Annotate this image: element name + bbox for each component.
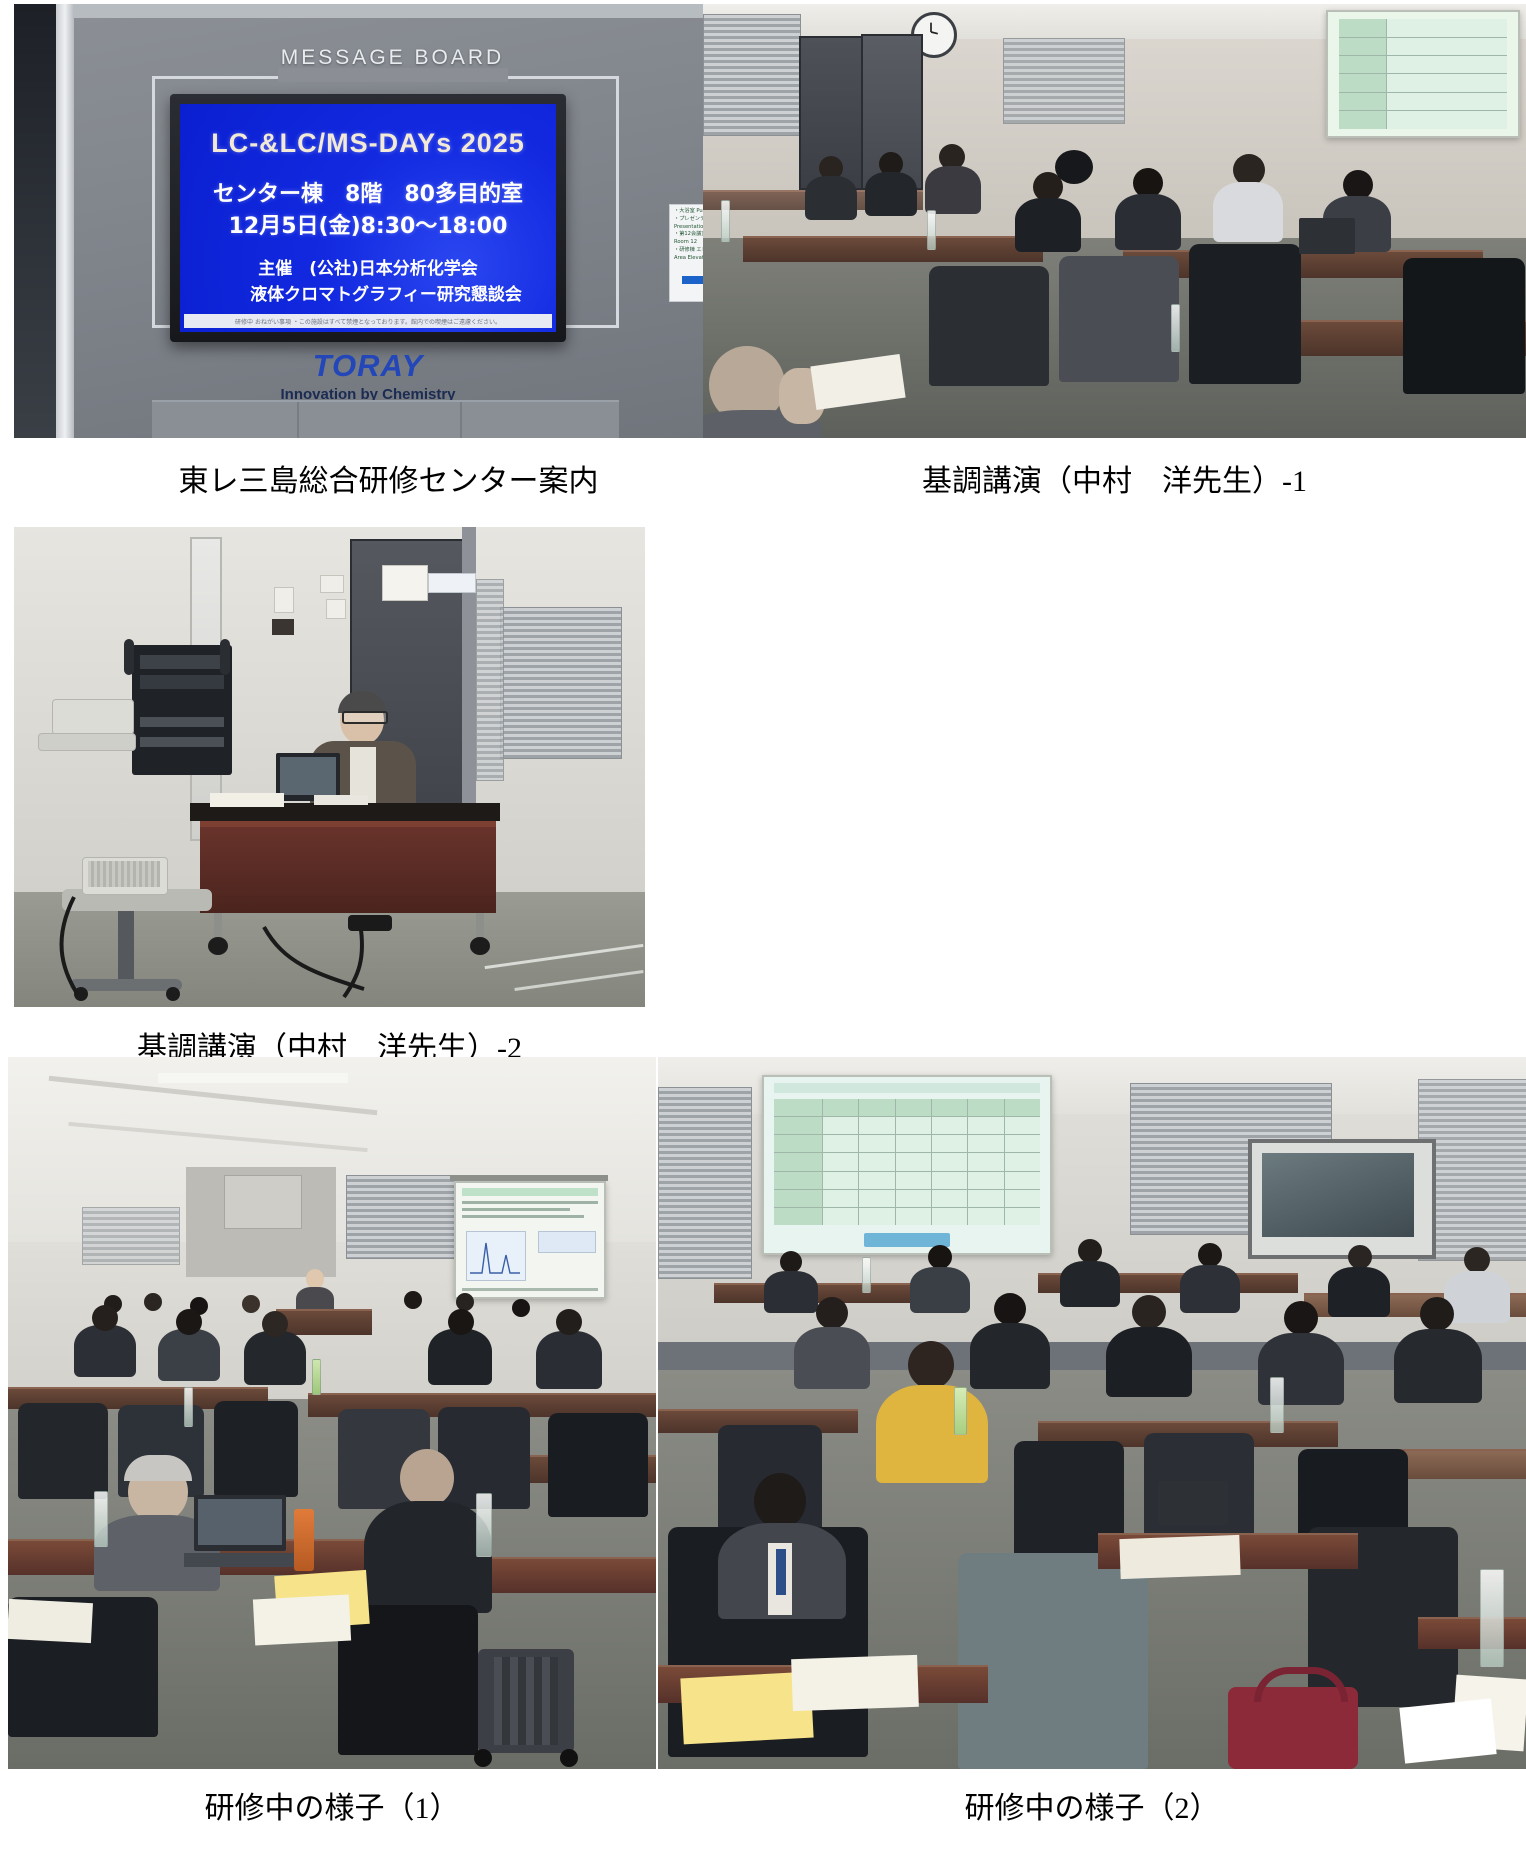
screen-organizer: 主催 (公社)日本分析化学会 (180, 254, 556, 279)
attendee-body (925, 166, 981, 214)
papers-on-lectern (210, 793, 284, 807)
attendee-body (794, 1327, 870, 1389)
photo2-chair (1403, 258, 1525, 394)
photo-training-1 (8, 1057, 656, 1769)
photo4-room (8, 1057, 656, 1769)
av-rack-handle (124, 639, 134, 675)
screen-ticker: 研修中 おねがい事項 ・この施設はすべて禁煙となっております。館内での喫煙はご遠… (184, 314, 552, 328)
attendee-body (1060, 1261, 1120, 1307)
photo4-panel (224, 1175, 302, 1229)
water-bottle (1480, 1569, 1504, 1667)
lectern-edge (200, 821, 496, 827)
laptop-screen (198, 1499, 282, 1545)
slide-title-bar (774, 1083, 1040, 1093)
photo-keynote-1 (703, 4, 1526, 438)
water-bottle (184, 1387, 193, 1427)
attendee-body (428, 1329, 492, 1385)
photo-keynote-2 (14, 527, 645, 1007)
av-rack-handle (220, 639, 230, 675)
attendee-head (1132, 1295, 1166, 1329)
attendee-head (816, 1297, 848, 1329)
figure-1-caption: 東レ三島総合研修センター案内 (14, 464, 763, 500)
water-bottle (1270, 1377, 1284, 1433)
attendee-body (364, 1501, 492, 1613)
laptop-keyboard (184, 1553, 296, 1567)
photo2-desk (743, 236, 1043, 262)
glasses-icon (342, 711, 388, 724)
photo1-seam-line (297, 402, 299, 438)
document-page: MESSAGE BOARD LC-&LC/MS-DAYs 2025 センター棟 … (0, 0, 1526, 1855)
screen-venue: センター棟 8階 80多目的室 (180, 176, 556, 208)
handout-paper (8, 1599, 93, 1643)
attendee-head (556, 1309, 582, 1335)
handout-paper (791, 1655, 919, 1711)
photo2-window-blinds (703, 14, 801, 136)
attendee-body (1180, 1265, 1240, 1313)
wall-notice (428, 573, 476, 593)
photo4-window-blinds (82, 1207, 180, 1265)
figure-5: 研修中の様子（2） (658, 1057, 1526, 1827)
attendee-head (242, 1295, 260, 1313)
figure-5-caption: 研修中の様子（2） (658, 1791, 1526, 1827)
photo4-chair (18, 1403, 108, 1499)
attendee-body (158, 1329, 220, 1381)
toray-logo: TORAY Innovation by Chemistry (170, 348, 566, 403)
photo4-chair (338, 1605, 478, 1755)
attendee-head (144, 1293, 162, 1311)
handout-paper (1119, 1535, 1240, 1579)
attendee-body (1015, 198, 1081, 252)
photo2-chair (1189, 244, 1301, 384)
photo1-left-wall (14, 4, 56, 438)
slide-table (774, 1099, 1040, 1225)
laptop (1158, 1481, 1228, 1525)
water-bottle (312, 1359, 321, 1395)
attendee-head (92, 1305, 118, 1331)
slide-title-bar (462, 1188, 598, 1196)
papers-on-lectern (314, 795, 368, 805)
suitcase-ribs (494, 1657, 558, 1745)
drink-cup (294, 1509, 314, 1571)
equipment-box (52, 699, 134, 735)
av-rack-slot (140, 655, 224, 669)
av-rack-slot (140, 737, 224, 747)
figure-4-caption: 研修中の様子（1） (8, 1791, 656, 1827)
photo2-chair (929, 266, 1049, 386)
projection-screen (1326, 10, 1520, 138)
photo2-window-blinds (1003, 38, 1125, 124)
attendee-head (908, 1341, 954, 1389)
slide-legend (538, 1231, 596, 1253)
projection-screen (454, 1181, 606, 1299)
attendee-body (1115, 194, 1181, 250)
open-book (1399, 1698, 1496, 1763)
photo1-left-pillar (56, 4, 74, 438)
photo1-message-board-panel: MESSAGE BOARD LC-&LC/MS-DAYs 2025 センター棟 … (74, 18, 711, 438)
slide-chart-curve (468, 1233, 522, 1277)
photo-message-board: MESSAGE BOARD LC-&LC/MS-DAYs 2025 センター棟 … (14, 4, 763, 438)
attendee-body (1106, 1327, 1192, 1397)
equipment-shelf (38, 733, 136, 751)
announcement-screen: LC-&LC/MS-DAYs 2025 センター棟 8階 80多目的室 12月5… (180, 104, 556, 332)
water-bottle (927, 210, 936, 250)
message-board-header: MESSAGE BOARD (74, 46, 711, 70)
attendee-head (1284, 1301, 1318, 1335)
attendee-lanyard (776, 1549, 786, 1595)
figure-2: 基調講演（中村 洋先生）-1 (703, 4, 1526, 500)
attendee-body (970, 1323, 1050, 1389)
attendee-body (764, 1271, 818, 1313)
figure-3: 基調講演（中村 洋先生）-2 (14, 527, 645, 1067)
projection-screen (762, 1075, 1052, 1255)
photo5-window-blinds (658, 1087, 752, 1279)
wall-outlet (272, 619, 294, 635)
caster-wheel (474, 1749, 492, 1767)
laptop (1299, 218, 1355, 254)
water-bottle (862, 1257, 871, 1293)
ceiling-light (158, 1073, 348, 1083)
caster-wheel (560, 1749, 578, 1767)
water-bottle (476, 1493, 492, 1557)
attendee-body (1213, 182, 1283, 242)
attendee-head (1055, 150, 1093, 184)
laptop-screen (280, 757, 336, 795)
av-rack-slot (140, 717, 224, 727)
attendee-head (1348, 1245, 1372, 1269)
handout-paper (253, 1595, 351, 1646)
screen-datetime: 12月5日(金)8:30～18:00 (180, 208, 556, 240)
photo1-panel-seam (152, 400, 619, 438)
photo2-chair (1059, 256, 1179, 382)
photo3-room (14, 527, 645, 1007)
water-bottle (1171, 304, 1180, 352)
figure-2-caption: 基調講演（中村 洋先生）-1 (703, 464, 1526, 500)
figure-4: 研修中の様子（1） (8, 1057, 656, 1827)
photo3-window-blinds (500, 607, 622, 759)
attendee-head (1420, 1297, 1454, 1331)
screen-group: 液体クロマトグラフィー研究懇談会 (180, 280, 556, 305)
attendee-body (1328, 1267, 1390, 1317)
photo3-window-blinds (476, 579, 504, 781)
photo4-chair (548, 1413, 648, 1517)
whiteboard-surface (1262, 1153, 1414, 1237)
figure-1: MESSAGE BOARD LC-&LC/MS-DAYs 2025 センター棟 … (14, 4, 763, 500)
attendee-head (512, 1299, 530, 1317)
wall-switch (326, 599, 346, 619)
attendee-body (536, 1331, 602, 1389)
attendee-body (1394, 1329, 1482, 1403)
attendee-head (404, 1291, 422, 1309)
slide-table (1339, 19, 1506, 128)
photo1-seam-line (460, 402, 462, 438)
wall-switch (274, 587, 294, 613)
attendee-body (865, 172, 917, 216)
photo1-tv-bezel: LC-&LC/MS-DAYs 2025 センター棟 8階 80多目的室 12月5… (170, 94, 566, 342)
attendee-head (176, 1309, 202, 1335)
front-desk (276, 1309, 372, 1335)
water-bottle (94, 1491, 108, 1547)
photo5-room (658, 1057, 1526, 1769)
attendee-body (876, 1385, 988, 1483)
attendee-head (928, 1245, 952, 1269)
wall-notice (382, 565, 428, 601)
attendee-body (74, 1325, 136, 1377)
photo4-chair (214, 1401, 298, 1497)
photo5-chair (958, 1553, 1148, 1769)
attendee-body (910, 1267, 970, 1313)
attendee-head (994, 1293, 1026, 1325)
av-rack-slot (140, 675, 224, 689)
photo5-desk-near (1418, 1617, 1526, 1649)
attendee-body (244, 1331, 306, 1385)
screen-rail (450, 1175, 608, 1181)
attendee-head (262, 1311, 288, 1337)
attendee-head (780, 1251, 802, 1273)
water-bottle (954, 1387, 967, 1435)
wall-switch (320, 575, 344, 593)
attendee-head (1464, 1247, 1490, 1273)
attendee-head (400, 1449, 454, 1507)
toray-wordmark: TORAY (170, 348, 566, 384)
photo2-room (703, 4, 1526, 438)
photo1-title-mask (278, 68, 508, 82)
attendee-body (805, 176, 857, 220)
photo-training-2 (658, 1057, 1526, 1769)
presenter-head (306, 1269, 324, 1289)
attendee-head (1078, 1239, 1102, 1263)
screen-title: LC-&LC/MS-DAYs 2025 (180, 128, 556, 159)
attendee-head (448, 1309, 474, 1335)
water-bottle (721, 200, 730, 242)
attendee-head (754, 1473, 806, 1529)
attendee-head (1198, 1243, 1222, 1267)
